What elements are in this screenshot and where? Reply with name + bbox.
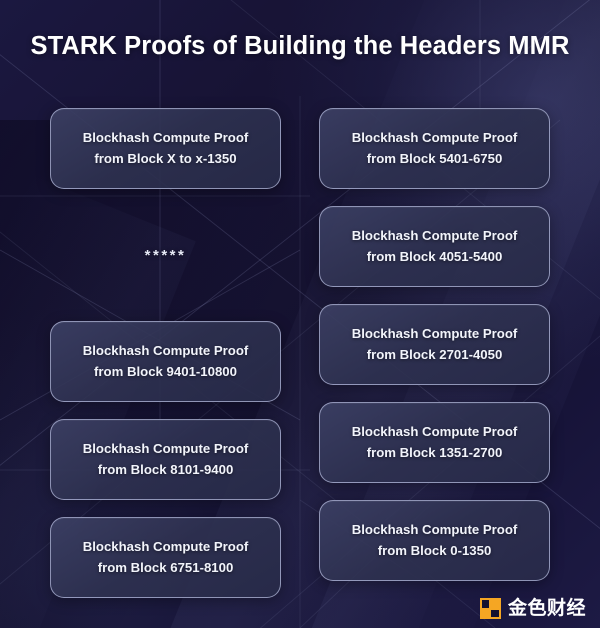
proof-card-line-1: Blockhash Compute Proof [83,342,249,360]
proof-card-line-1: Blockhash Compute Proof [352,521,518,539]
proof-card-line-1: Blockhash Compute Proof [83,129,249,147]
ellipsis-placeholder: ***** [50,206,281,304]
proof-card-line-2: from Block 5401-6750 [367,150,503,168]
proof-card[interactable]: Blockhash Compute Proof from Block 5401-… [319,108,550,189]
ellipsis-asterisks: ***** [145,247,187,264]
proof-card[interactable]: Blockhash Compute Proof from Block 2701-… [319,304,550,385]
proof-card-line-2: from Block 8101-9400 [98,461,234,479]
proof-card-line-2: from Block 1351-2700 [367,444,503,462]
proof-card-line-2: from Block X to x-1350 [94,150,236,168]
proof-card-line-2: from Block 2701-4050 [367,346,503,364]
proof-card[interactable]: Blockhash Compute Proof from Block 4051-… [319,206,550,287]
proof-card-line-2: from Block 0-1350 [378,542,492,560]
proof-card[interactable]: Blockhash Compute Proof from Block 6751-… [50,517,281,598]
proof-card-line-1: Blockhash Compute Proof [352,129,518,147]
proof-card[interactable]: Blockhash Compute Proof from Block 9401-… [50,321,281,402]
proof-card[interactable]: Blockhash Compute Proof from Block X to … [50,108,281,189]
proof-card-line-2: from Block 6751-8100 [98,559,234,577]
proof-column-right: Blockhash Compute Proof from Block 5401-… [319,108,550,598]
jinse-logo-icon [480,598,501,619]
proof-card-line-1: Blockhash Compute Proof [352,227,518,245]
proof-card-line-1: Blockhash Compute Proof [352,423,518,441]
proof-column-left: Blockhash Compute Proof from Block X to … [50,108,281,615]
proof-card-line-2: from Block 9401-10800 [94,363,237,381]
infographic-canvas: STARK Proofs of Building the Headers MMR… [0,0,600,628]
proof-card[interactable]: Blockhash Compute Proof from Block 1351-… [319,402,550,483]
proof-card[interactable]: Blockhash Compute Proof from Block 8101-… [50,419,281,500]
watermark-text: 金色财经 [508,599,586,618]
page-title: STARK Proofs of Building the Headers MMR [0,32,600,61]
proof-card-line-2: from Block 4051-5400 [367,248,503,266]
proof-card[interactable]: Blockhash Compute Proof from Block 0-135… [319,500,550,581]
proof-card-line-1: Blockhash Compute Proof [83,440,249,458]
watermark: 金色财经 [480,598,586,619]
proof-card-line-1: Blockhash Compute Proof [352,325,518,343]
proof-card-line-1: Blockhash Compute Proof [83,538,249,556]
